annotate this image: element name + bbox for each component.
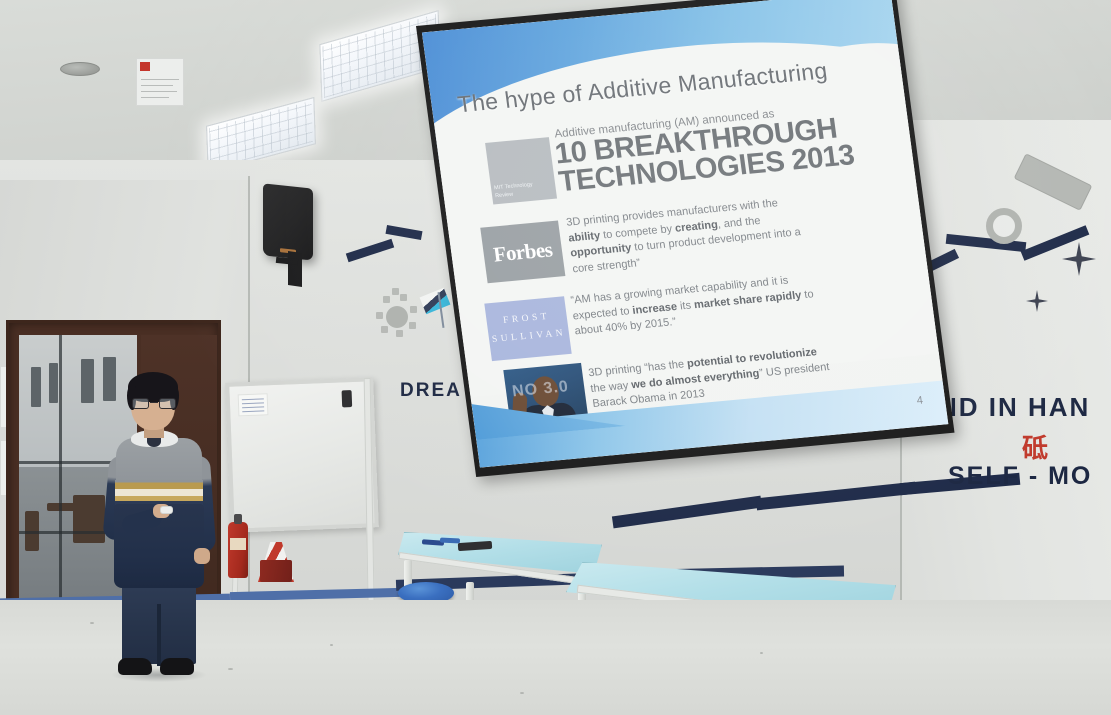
obama-photo-overlay-text: NO 3.0 xyxy=(511,378,570,401)
gear-icon xyxy=(386,306,408,328)
wall-speaker xyxy=(263,183,313,260)
magnifier-lens-icon xyxy=(986,208,1022,244)
presenter-hand-right xyxy=(194,548,210,564)
screen-border: The hype of Additive Manufacturing Addit… xyxy=(416,0,955,477)
wall-text-chinese: 砥 xyxy=(1022,428,1051,465)
forbes-logo: Forbes xyxy=(480,221,565,284)
projection-screen: The hype of Additive Manufacturing Addit… xyxy=(416,0,955,477)
wall-text-self-mo: SELF - MO xyxy=(948,462,1092,491)
whiteboard-note xyxy=(238,393,269,416)
presenter-shoe-left xyxy=(118,658,152,675)
forbes-logo-text: Forbes xyxy=(491,234,554,270)
frost-logo-line-2: SULLIVAN xyxy=(491,327,567,348)
ceiling-vent-icon xyxy=(60,62,100,76)
door-poster xyxy=(136,58,184,106)
safety-cone xyxy=(258,534,294,582)
whiteboard xyxy=(225,377,379,533)
presenter-sweater-pattern-band xyxy=(115,480,203,506)
frost-logo-line-1: FROST xyxy=(502,311,551,329)
presentation-clicker xyxy=(160,506,173,514)
fire-extinguisher xyxy=(228,522,248,578)
mit-tech-review-logo: MIT Technology Review xyxy=(485,137,557,204)
wall-text-hand-in-hand: ND IN HAN xyxy=(938,392,1090,423)
classroom-scene: DREA ND IN HAN 砥 SELF - MO xyxy=(0,0,1111,715)
frost-sullivan-logo: FROST SULLIVAN xyxy=(484,296,571,361)
presentation-slide: The hype of Additive Manufacturing Addit… xyxy=(422,0,948,468)
presenter-leg-gap xyxy=(157,604,161,666)
wall-text-dream: DREA xyxy=(400,380,462,402)
presenter-glasses xyxy=(132,398,176,409)
whiteboard-marker-2 xyxy=(440,537,460,543)
presenter-shoe-right xyxy=(160,658,194,675)
presenter xyxy=(98,372,220,682)
mit-logo-text: MIT Technology Review xyxy=(494,180,554,201)
whiteboard-eraser xyxy=(342,390,353,407)
poster-red-mark xyxy=(140,62,150,71)
screen-surface: The hype of Additive Manufacturing Addit… xyxy=(422,0,948,468)
speaker-bracket xyxy=(288,251,302,287)
